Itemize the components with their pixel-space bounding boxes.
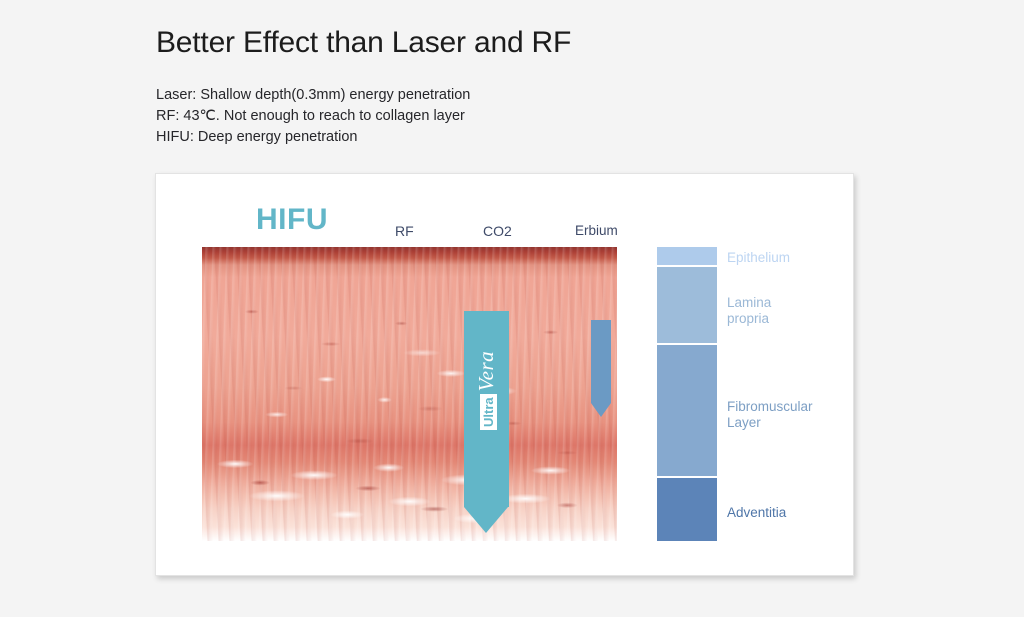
probe-rf-tip <box>591 403 611 417</box>
description-list: Laser: Shallow depth(0.3mm) energy penet… <box>156 85 470 148</box>
layer-band-adventitia <box>657 478 717 541</box>
figure-card: UltraVera HIFU RF CO2 Erbium Epithelium … <box>155 173 854 576</box>
layer-label-fibromuscular: Fibromuscular Layer <box>727 399 813 431</box>
probe-rf-shaft <box>591 320 611 403</box>
histology-image: UltraVera <box>202 247 617 541</box>
layer-band-epithelium <box>657 247 717 267</box>
probe-rf <box>591 320 611 417</box>
probe-label-erbium: Erbium <box>575 224 618 238</box>
probe-label-rf: RF <box>395 224 414 238</box>
layer-label-adventitia: Adventitia <box>727 505 786 521</box>
layer-band-fibromuscular <box>657 345 717 478</box>
tissue-adventitia-texture <box>202 447 617 541</box>
layer-band-lamina-propria <box>657 267 717 345</box>
layer-label-lamina-propria: Lamina propria <box>727 295 771 327</box>
probe-label-co2: CO2 <box>483 224 512 238</box>
description-line-hifu: HIFU: Deep energy penetration <box>156 127 470 148</box>
probe-hifu-tip <box>464 507 508 533</box>
page-title: Better Effect than Laser and RF <box>156 26 571 60</box>
probe-label-hifu: HIFU <box>256 205 328 235</box>
tissue-layer-legend: Epithelium Lamina propria Fibromuscular … <box>657 247 717 541</box>
description-line-laser: Laser: Shallow depth(0.3mm) energy penet… <box>156 85 470 106</box>
description-line-rf: RF: 43℃. Not enough to reach to collagen… <box>156 106 470 127</box>
layer-label-epithelium: Epithelium <box>727 250 790 266</box>
probe-hifu-shaft <box>464 311 509 507</box>
probe-hifu: UltraVera <box>464 311 509 533</box>
